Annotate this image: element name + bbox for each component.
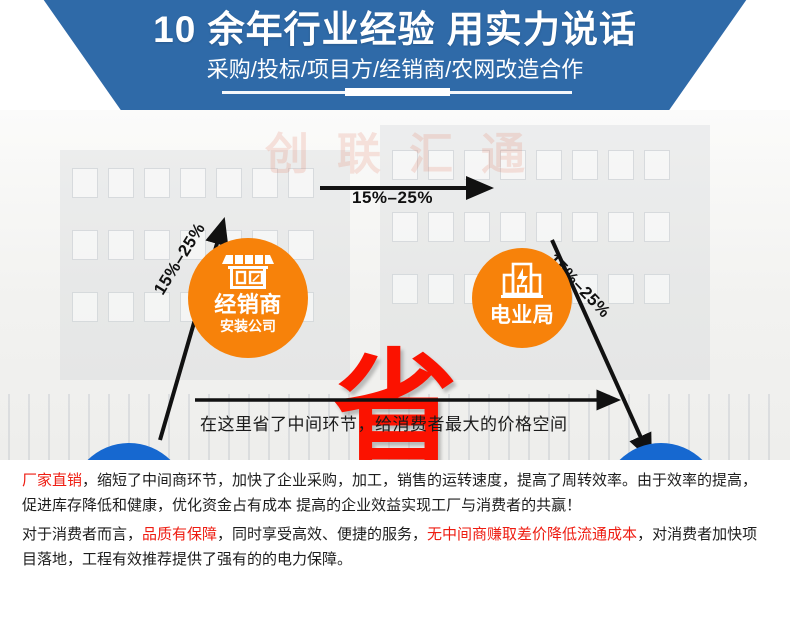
diagram-arrows: [0, 110, 790, 460]
node-dealer[interactable]: 经销商 安装公司: [188, 238, 308, 358]
footer-paragraph-2-mid: ，同时享受高效、便捷的服务，: [217, 526, 427, 543]
arrow-label-factory-to-consumer: 在这里省了中间环节，给消费者最大的价格空间: [200, 410, 568, 435]
footer-highlight-quality: 品质有保障: [142, 526, 217, 543]
diagram-stage: 创联汇通 省 15%–25% 15%–25% 15%–25% 在这里省了中间环节…: [0, 110, 790, 460]
power-building-icon: [499, 262, 545, 300]
header-divider-center-block: [345, 88, 450, 96]
header-title: 10 余年行业经验 用实力说话: [0, 8, 790, 52]
arrow-label-dealer-to-power: 15%–25%: [352, 188, 433, 208]
promo-banner-page: 10 余年行业经验 用实力说话 采购/投标/项目方/经销商/农网改造合作: [0, 0, 790, 619]
footer-highlight-no-middleman: 无中间商赚取差价降低流通成本: [427, 526, 637, 543]
node-power-bureau[interactable]: 电业局: [472, 248, 572, 348]
footer-paragraph-1-rest: ，缩短了中间商环节，加快了企业采购，加工，销售的运转速度，提高了周转效率。由于效…: [22, 472, 757, 514]
node-power-bureau-label: 电业局: [472, 304, 572, 327]
header-subtitle: 采购/投标/项目方/经销商/农网改造合作: [0, 56, 790, 84]
footer-paragraph-2-lead: 对于消费者而言，: [22, 526, 142, 543]
header-banner: 10 余年行业经验 用实力说话 采购/投标/项目方/经销商/农网改造合作: [0, 0, 790, 110]
footer-paragraph-1: 厂家直销，缩短了中间商环节，加快了企业采购，加工，销售的运转速度，提高了周转效率…: [22, 468, 772, 518]
footer-description: 厂家直销，缩短了中间商环节，加快了企业采购，加工，销售的运转速度，提高了周转效率…: [0, 460, 790, 619]
node-dealer-label: 经销商: [188, 293, 308, 317]
shop-icon: [222, 252, 274, 290]
footer-paragraph-2: 对于消费者而言，品质有保障，同时享受高效、便捷的服务，无中间商赚取差价降低流通成…: [22, 522, 772, 572]
footer-highlight-direct-sales: 厂家直销: [22, 472, 82, 489]
node-dealer-sublabel: 安装公司: [188, 318, 308, 334]
